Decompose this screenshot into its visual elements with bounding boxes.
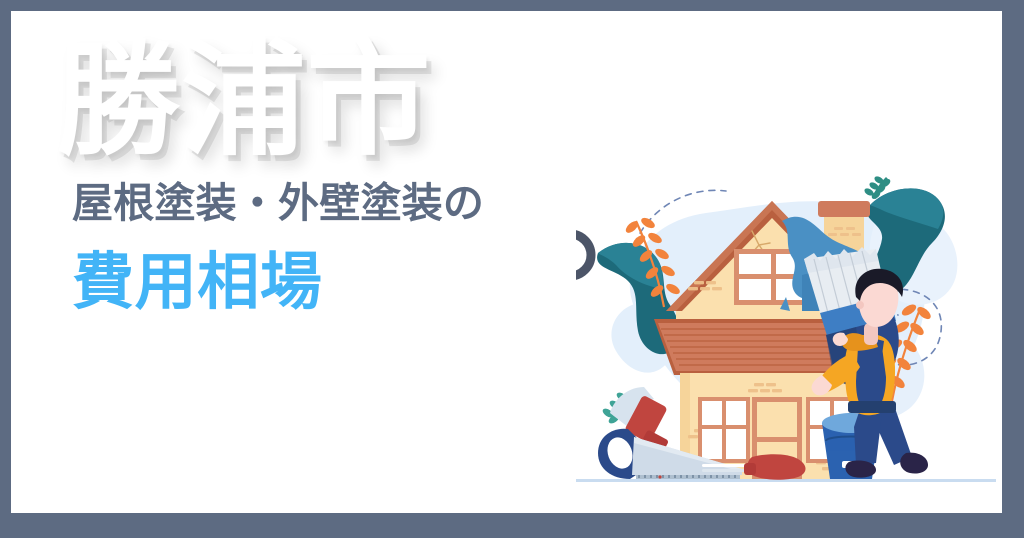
- highlight-text: 費用相場: [72, 250, 616, 315]
- dark-ring-decoration: [576, 233, 591, 277]
- text-block: 勝浦市 屋根塗装・外壁塗装の 費用相場: [56, 39, 616, 315]
- subtitle: 屋根塗装・外壁塗装の: [72, 181, 616, 226]
- ground-line: [576, 479, 996, 482]
- banner-root: 勝浦市 屋根塗装・外壁塗装の 費用相場: [0, 0, 1024, 538]
- house-painting-illustration: [576, 161, 996, 511]
- page-title: 勝浦市: [56, 39, 616, 163]
- banner-canvas: 勝浦市 屋根塗装・外壁塗装の 費用相場: [11, 11, 1002, 513]
- left-window: [698, 397, 750, 463]
